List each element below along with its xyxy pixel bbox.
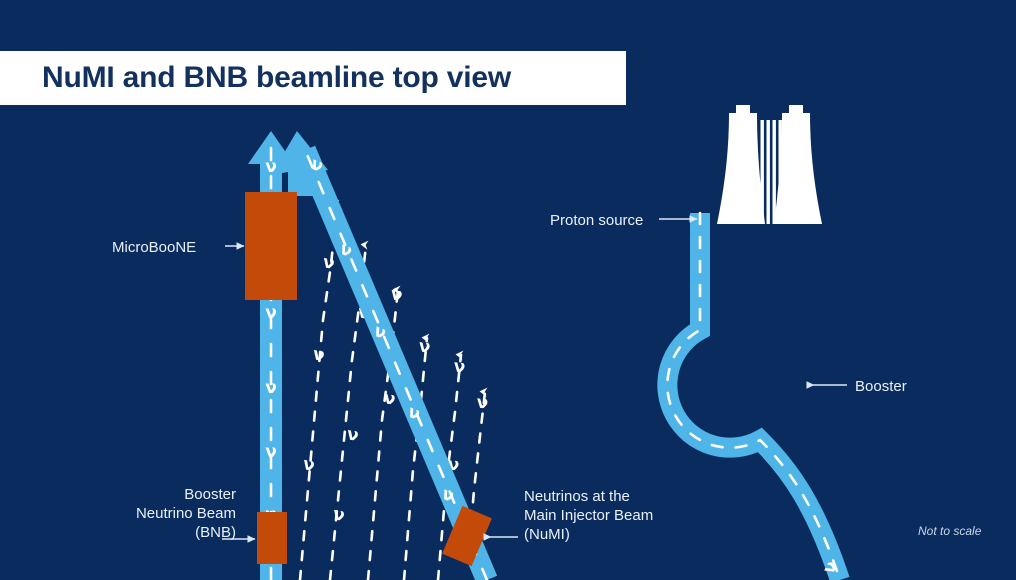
wilson-hall-icon (717, 105, 822, 224)
svg-text:ν: ν (331, 504, 346, 526)
svg-text:ν: ν (265, 157, 277, 177)
svg-text:ν: ν (476, 393, 489, 414)
numi-beam (271, 131, 487, 580)
page-title: NuMI and BNB beamline top view (42, 61, 511, 95)
svg-text:ν: ν (453, 357, 466, 378)
bnb-target (257, 512, 287, 564)
label-booster: Booster (855, 377, 907, 396)
svg-text:ν: ν (311, 344, 326, 366)
title-banner: NuMI and BNB beamline top view (0, 51, 626, 105)
label-booster-neutrino-beam: Booster Neutrino Beam (BNB) (64, 485, 236, 542)
label-microboone: MicroBooNE (112, 238, 196, 257)
label-numi-beam: Neutrinos at the Main Injector Beam (NuM… (524, 487, 724, 544)
svg-text:ν: ν (265, 378, 277, 398)
svg-text:ν: ν (301, 454, 316, 476)
svg-text:ν: ν (321, 252, 336, 274)
svg-text:ν: ν (418, 336, 432, 357)
svg-text:ν: ν (390, 284, 404, 305)
svg-text:ν: ν (265, 303, 277, 323)
svg-text:ν: ν (345, 424, 360, 446)
microboone-detector (245, 192, 297, 300)
svg-text:ν: ν (265, 442, 277, 462)
label-proton-source: Proton source (550, 211, 643, 230)
label-not-to-scale: Not to scale (918, 524, 981, 538)
diagram-canvas: ν ν ν ν ν ν ν ν ν ν ν ν ν ν ν ν ν (0, 0, 1016, 580)
svg-text:ν: ν (383, 388, 397, 409)
